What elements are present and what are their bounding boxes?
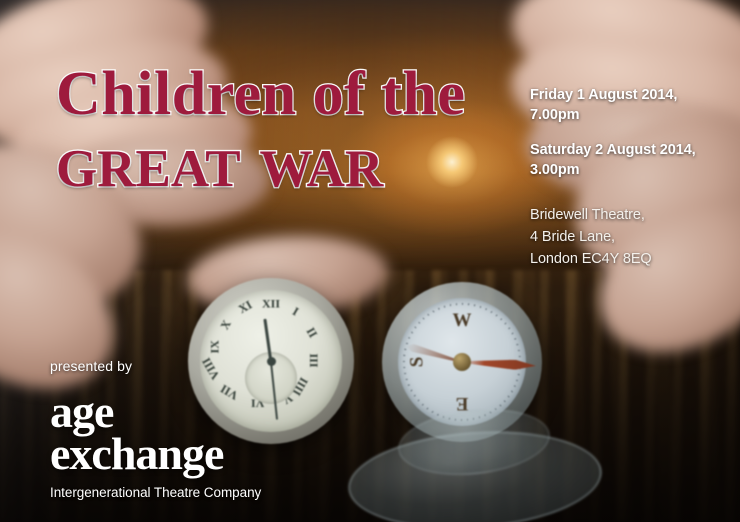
venue-address: Bridewell Theatre, 4 Bride Lane, London … bbox=[530, 204, 730, 270]
compass-face: W S E bbox=[398, 298, 526, 426]
logo-word-exchange: exchange bbox=[50, 434, 261, 474]
performance-date-1: Friday 1 August 2014, 7.00pm bbox=[530, 86, 730, 125]
title-line-1: Children of the bbox=[56, 66, 526, 123]
performance-date-2: Saturday 2 August 2014, 3.00pm bbox=[530, 141, 730, 180]
venue-city: London EC4Y 8EQ bbox=[530, 248, 730, 270]
company-credit: presented by age exchange Intergeneratio… bbox=[50, 358, 261, 500]
watch-numeral: II bbox=[303, 325, 321, 341]
logo-word-age: age bbox=[50, 392, 261, 432]
title-line-2: Great War bbox=[56, 127, 526, 197]
compass-pivot bbox=[453, 353, 471, 371]
venue-name: Bridewell Theatre, bbox=[530, 204, 730, 226]
watch-numeral: IX bbox=[207, 340, 222, 353]
compass-cardinal-s: S bbox=[406, 357, 428, 368]
watch-numeral: XI bbox=[236, 297, 255, 317]
watch-numeral: X bbox=[217, 317, 234, 332]
watch-numeral: III bbox=[306, 354, 321, 368]
event-poster: XIIIIIIIIIIIIVVIVIIVIIIIXXXI W S E Child… bbox=[0, 0, 740, 522]
watch-numeral: I bbox=[290, 304, 302, 319]
venue-street: 4 Bride Lane, bbox=[530, 226, 730, 248]
compass-cardinal-w: W bbox=[453, 310, 472, 332]
watch-numeral: XII bbox=[262, 297, 280, 312]
page-title: Children of the Great War bbox=[56, 66, 526, 197]
presented-by-label: presented by bbox=[50, 358, 261, 374]
watch-center-pin bbox=[267, 357, 276, 366]
performance-dates: Friday 1 August 2014, 7.00pm Saturday 2 … bbox=[530, 86, 730, 180]
company-tagline: Intergenerational Theatre Company bbox=[50, 485, 261, 500]
